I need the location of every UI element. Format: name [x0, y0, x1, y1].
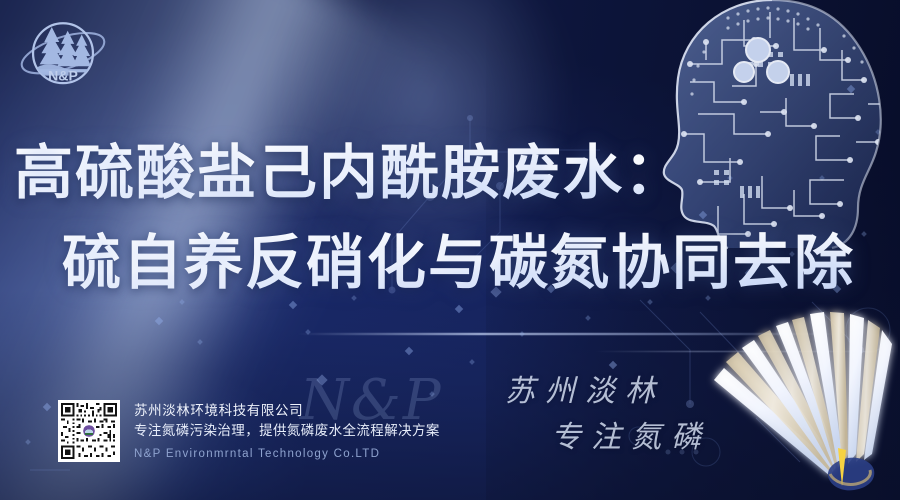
title-line-2: 硫自养反硝化与碳氮协同去除: [0, 226, 900, 300]
footer-text-block: 苏州淡林环境科技有限公司 专注氮磷污染治理，提供氮磷废水全流程解决方案 N&P …: [134, 400, 440, 464]
logo-wordmark: N&P: [48, 67, 78, 83]
wechat-qr-code[interactable]: [58, 400, 120, 462]
calligraphy-block: 苏州淡林 专注氮磷: [505, 372, 711, 458]
np-emblem-icon: N&P: [16, 12, 110, 100]
open-book-graphic: [692, 304, 898, 500]
qr-code-icon: [61, 403, 117, 459]
footer-block: 苏州淡林环境科技有限公司 专注氮磷污染治理，提供氮磷废水全流程解决方案 N&P …: [58, 400, 440, 464]
company-slogan-cn: 专注氮磷污染治理，提供氮磷废水全流程解决方案: [134, 421, 440, 442]
calligraphy-line-2: 专注氮磷: [551, 418, 711, 458]
company-logo: N&P: [16, 12, 110, 100]
title-block: 高硫酸盐己内酰胺废水： 硫自养反硝化与碳氮协同去除: [0, 136, 900, 300]
title-line-1: 高硫酸盐己内酰胺废水：: [0, 136, 900, 210]
calligraphy-line-1: 苏州淡林: [505, 372, 711, 412]
company-name-en: N&P Environmrntal Technology Co.LTD: [134, 444, 440, 464]
company-name-cn: 苏州淡林环境科技有限公司: [134, 401, 440, 421]
banner-poster: N&P: [0, 0, 900, 500]
